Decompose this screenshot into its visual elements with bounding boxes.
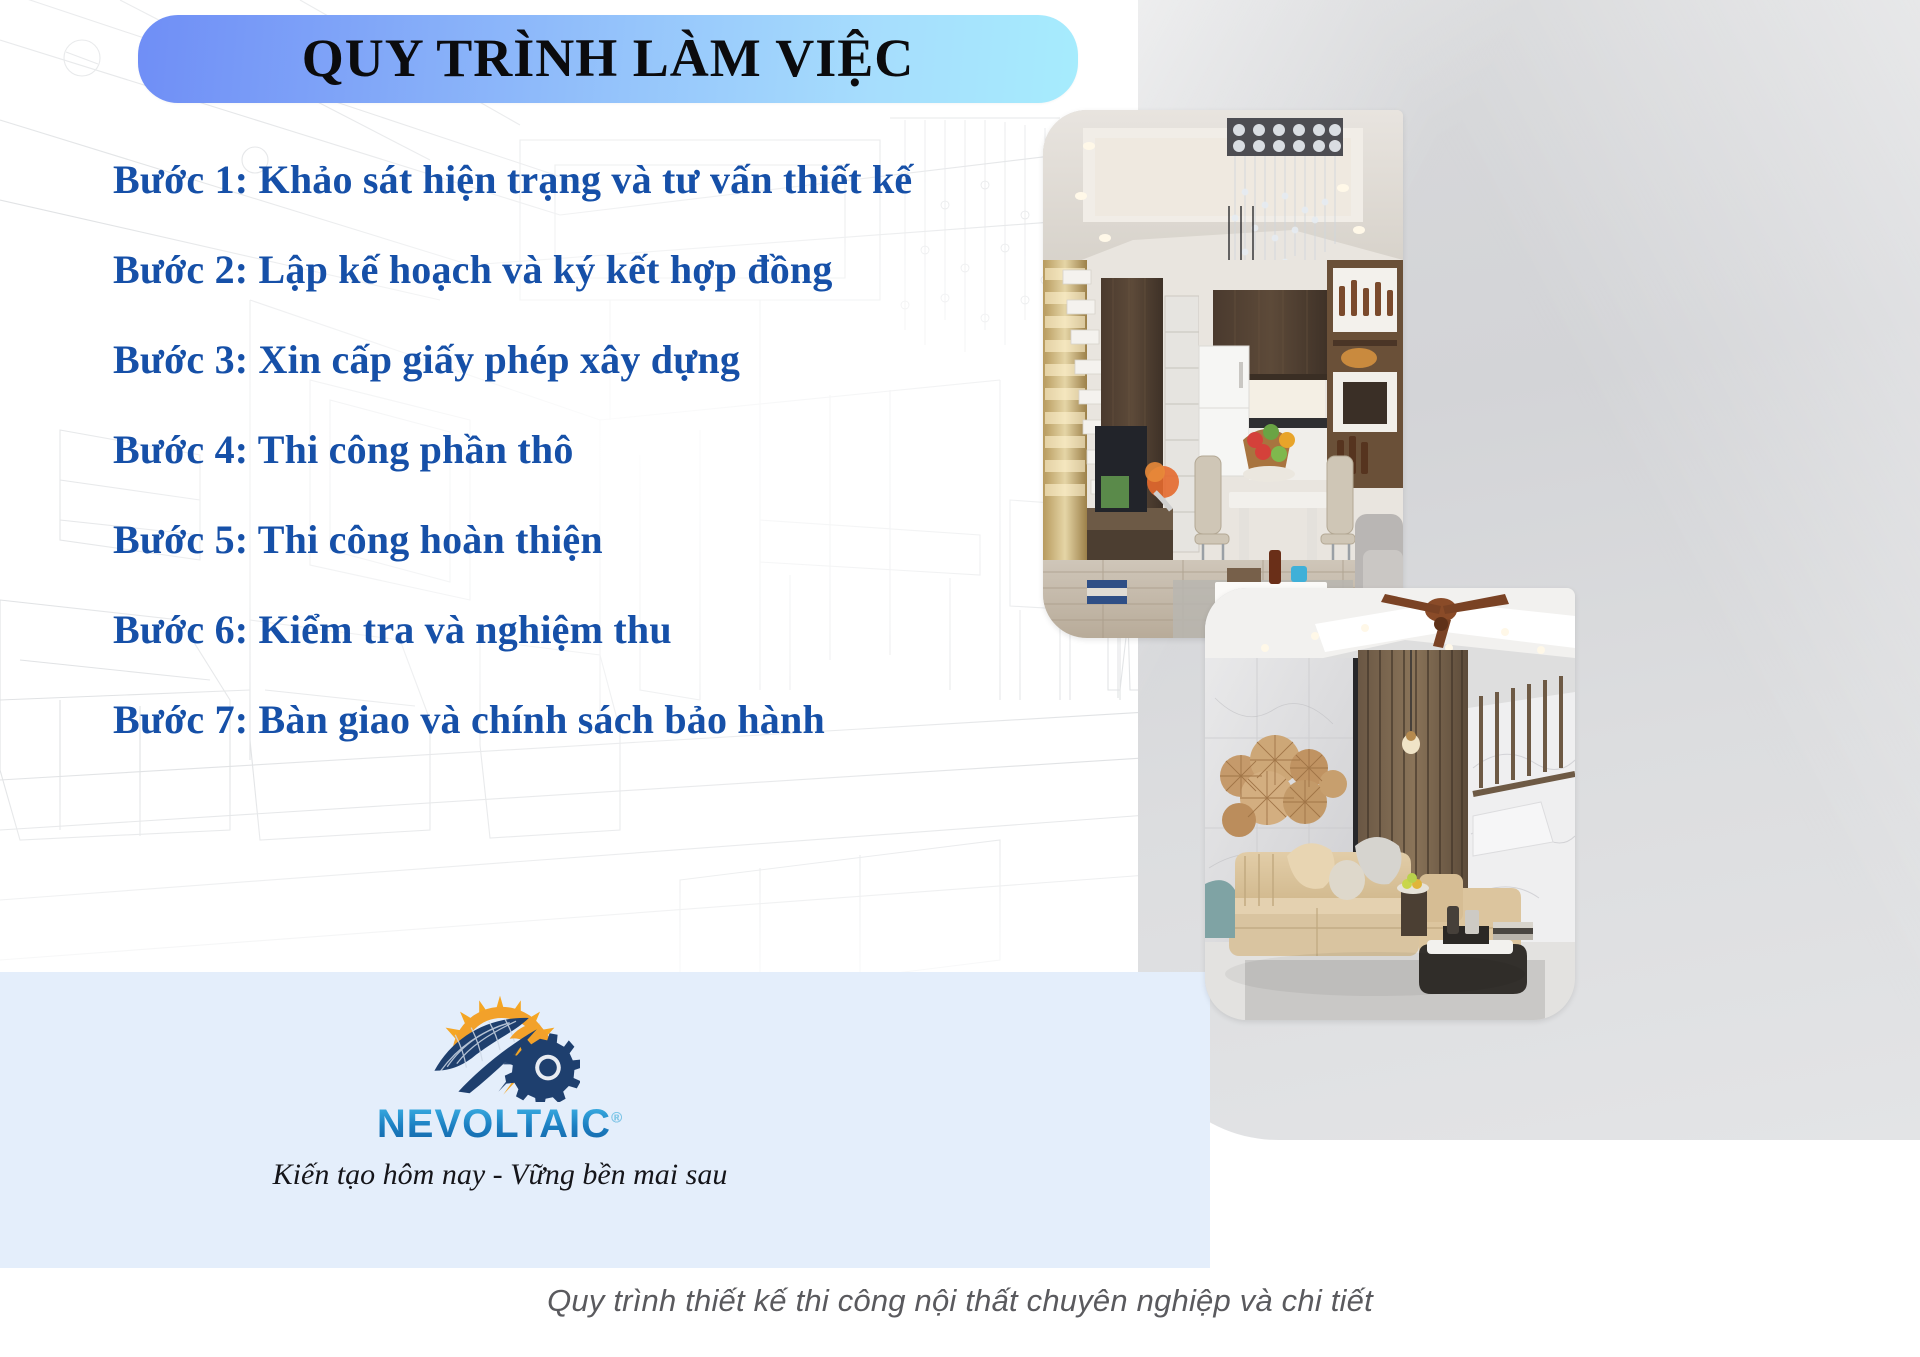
title-banner: QUY TRÌNH LÀM VIỆC: [138, 15, 1078, 103]
process-step-4: Bước 4: Thi công phần thô: [113, 430, 1073, 470]
brand-tagline: Kiến tạo hôm nay - Vững bền mai sau: [273, 1160, 728, 1190]
photo-living-room: [1205, 588, 1575, 1020]
photo-kitchen-dining: [1043, 110, 1403, 638]
registered-mark: ®: [611, 1110, 623, 1127]
bottom-caption: Quy trình thiết kế thi công nội thất chu…: [0, 1283, 1920, 1319]
poster-canvas: QUY TRÌNH LÀM VIỆC Bước 1: Khảo sát hiện…: [0, 0, 1920, 1357]
solar-sun-bolt-gear-icon: [420, 994, 580, 1102]
process-step-7: Bước 7: Bàn giao và chính sách bảo hành: [113, 700, 1073, 740]
process-step-1: Bước 1: Khảo sát hiện trạng và tư vấn th…: [113, 160, 1073, 200]
process-step-5: Bước 5: Thi công hoàn thiện: [113, 520, 1073, 560]
process-step-3: Bước 3: Xin cấp giấy phép xây dựng: [113, 340, 1073, 380]
page-title: QUY TRÌNH LÀM VIỆC: [302, 31, 915, 85]
process-steps-list: Bước 1: Khảo sát hiện trạng và tư vấn th…: [113, 160, 1073, 740]
brand-name-text: NEVOLTAIC: [377, 1102, 611, 1146]
brand-block: NEVOLTAIC® Kiến tạo hôm nay - Vững bền m…: [0, 972, 1000, 1268]
process-step-2: Bước 2: Lập kế hoạch và ký kết hợp đồng: [113, 250, 1073, 290]
process-step-6: Bước 6: Kiểm tra và nghiệm thu: [113, 610, 1073, 650]
brand-name: NEVOLTAIC®: [377, 1104, 623, 1144]
